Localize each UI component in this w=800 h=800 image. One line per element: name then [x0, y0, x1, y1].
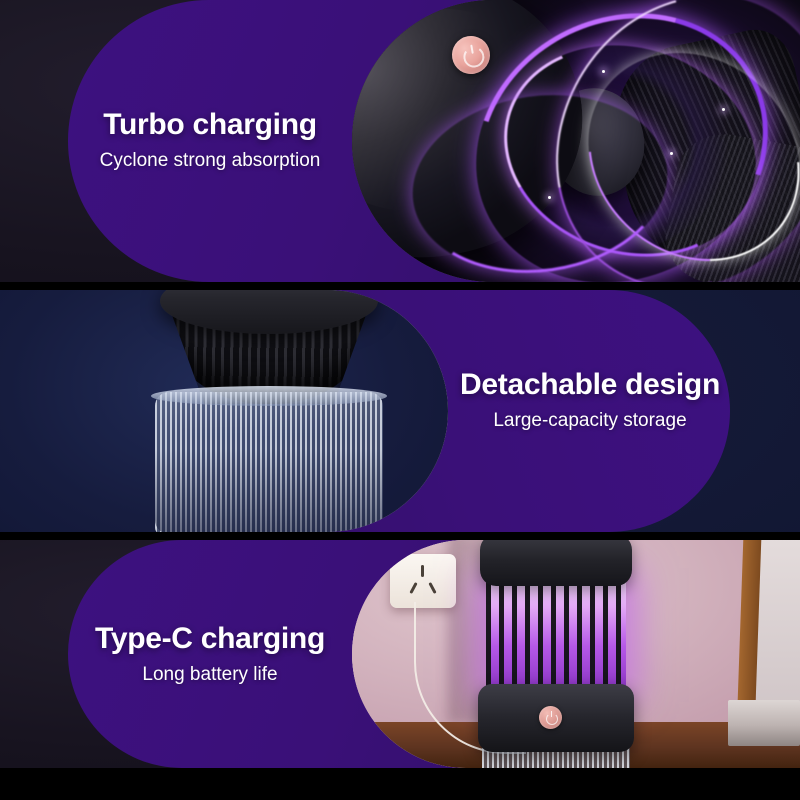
feature-subtitle: Cyclone strong absorption — [68, 150, 352, 173]
outlet-icon — [390, 554, 456, 608]
feature-text-block: Detachable design Large-capacity storage — [448, 368, 732, 432]
feature-subtitle: Long battery life — [68, 664, 352, 687]
lamp-top-cap — [480, 540, 632, 586]
power-button-icon — [539, 706, 562, 729]
outlet-slot-right — [428, 582, 436, 594]
feature-heading: Detachable design — [448, 368, 732, 402]
photo-scene — [352, 540, 800, 768]
power-glyph-icon — [546, 713, 558, 725]
outlet-slot-left — [409, 582, 417, 594]
feature-banner-stage: Turbo charging Cyclone strong absorption… — [0, 0, 800, 800]
stacked-books — [728, 700, 800, 746]
spark — [548, 196, 551, 199]
outlet-slot-vertical — [421, 565, 424, 577]
power-glyph-icon — [461, 44, 485, 68]
product-photo-detachable — [0, 290, 448, 532]
storage-jar-lip — [151, 386, 387, 406]
lamp-cage-bars — [486, 580, 626, 690]
feature-text-block: Turbo charging Cyclone strong absorption — [68, 108, 352, 172]
feature-heading: Turbo charging — [68, 108, 352, 142]
photo-scene — [0, 290, 448, 532]
footer-strip — [0, 768, 800, 800]
spark — [722, 108, 725, 111]
background-panel — [756, 540, 800, 726]
feature-panel-detachable-design: Detachable design Large-capacity storage — [0, 290, 800, 532]
feature-subtitle: Large-capacity storage — [448, 410, 732, 433]
feature-panel-type-c-charging: Type-C charging Long battery life — [0, 540, 800, 768]
feature-heading: Type-C charging — [68, 622, 352, 656]
photo-scene — [352, 0, 800, 282]
spark — [670, 152, 673, 155]
spark — [602, 70, 605, 73]
product-photo-room — [352, 540, 800, 768]
feature-text-block: Type-C charging Long battery life — [68, 622, 352, 686]
storage-jar-shading — [155, 392, 383, 532]
product-photo-cyclone — [352, 0, 800, 282]
feature-panel-turbo-charging: Turbo charging Cyclone strong absorption — [0, 0, 800, 282]
